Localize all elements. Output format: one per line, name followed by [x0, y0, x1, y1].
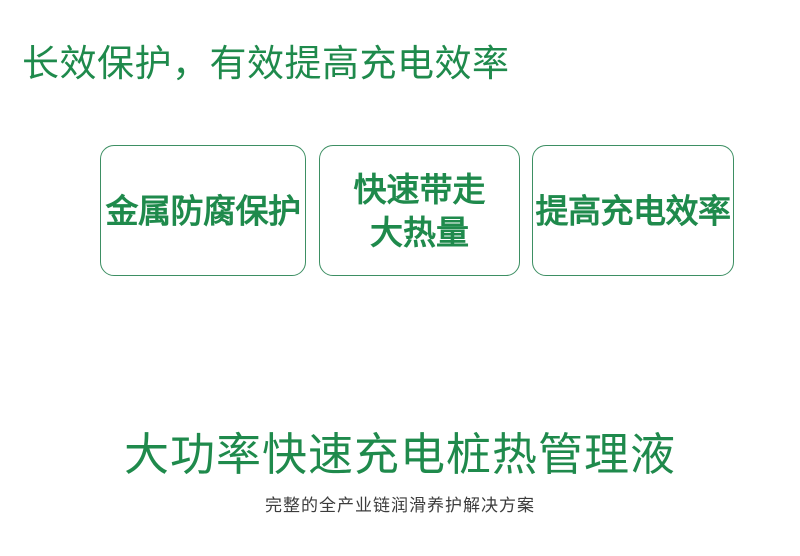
feature-card-charging-efficiency: 提高充电效率: [532, 145, 734, 276]
product-tagline: 完整的全产业链润滑养护解决方案: [0, 496, 800, 516]
feature-box-row: 金属防腐保护 快速带走 大热量 提高充电效率: [0, 145, 800, 276]
slide-canvas: 长效保护，有效提高充电效率 金属防腐保护 快速带走 大热量 提高充电效率 大功率…: [0, 0, 800, 556]
feature-card-heat-removal: 快速带走 大热量: [319, 145, 520, 276]
page-title: 长效保护，有效提高充电效率: [22, 43, 510, 86]
feature-card-label: 金属防腐保护: [73, 189, 333, 232]
feature-card-label: 快速带走 大热量: [320, 168, 520, 254]
feature-card-label: 提高充电效率: [503, 189, 763, 232]
feature-card-metal-protection: 金属防腐保护: [100, 145, 306, 276]
product-name: 大功率快速充电桩热管理液: [0, 430, 800, 480]
